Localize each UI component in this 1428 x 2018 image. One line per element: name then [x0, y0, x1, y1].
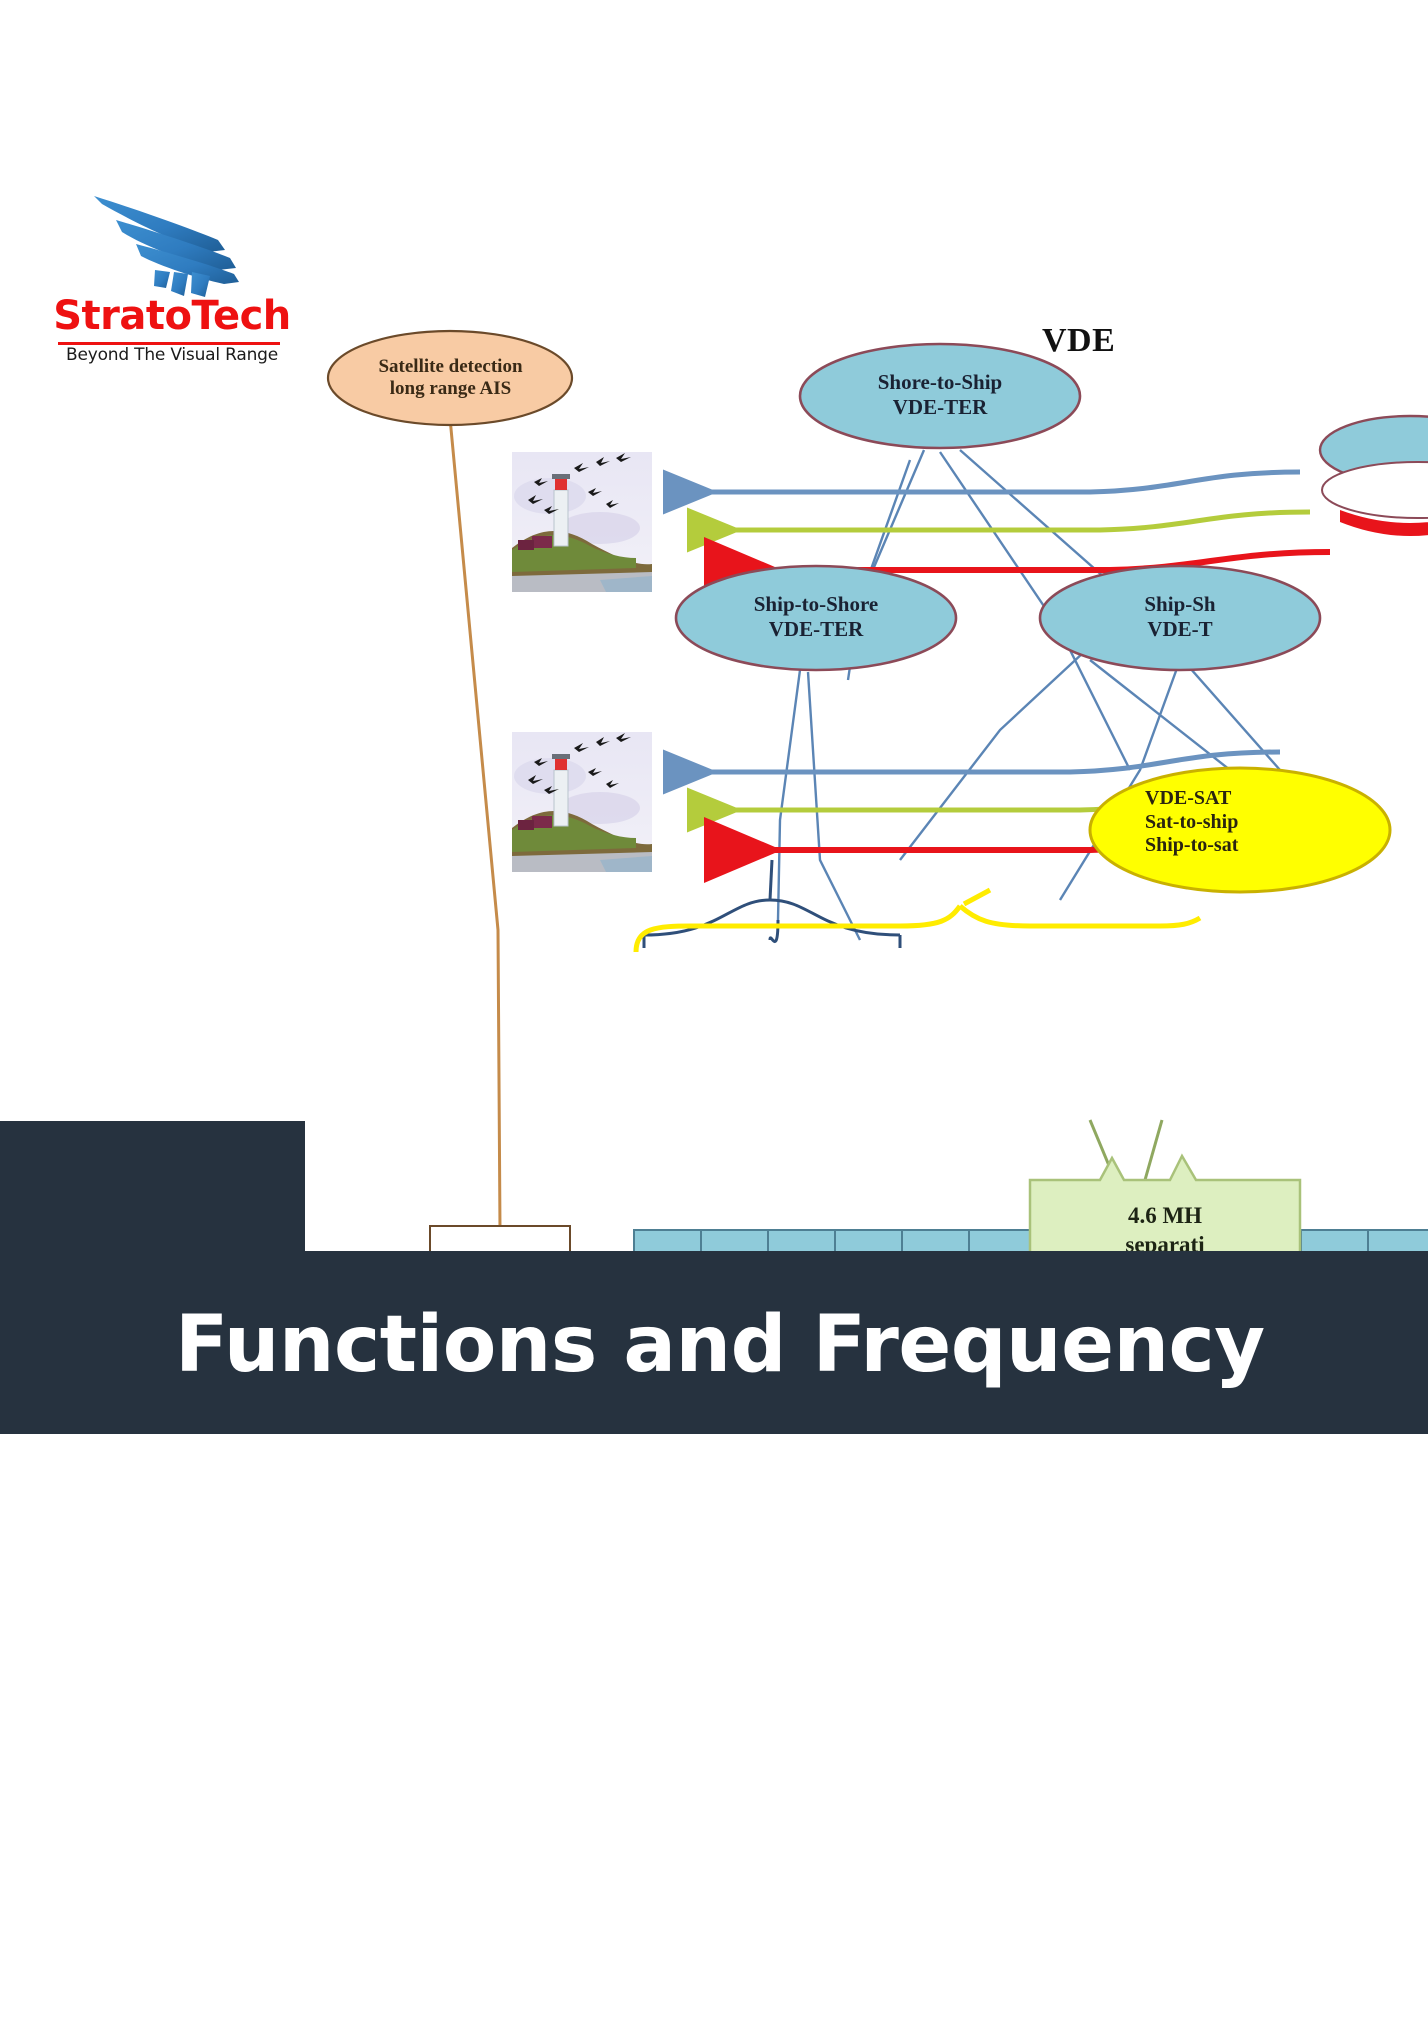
diagram-title: VDE — [1042, 322, 1115, 360]
stratotech-logo: StratoTech Beyond The Visual Range — [52, 192, 292, 377]
wing-icon — [92, 192, 252, 297]
lighthouse-lower-image — [512, 732, 652, 872]
lighthouse-upper-image — [512, 452, 652, 592]
slide-canvas: StratoTech Beyond The Visual Range — [0, 0, 1428, 2018]
node-ship-to-ship — [1040, 566, 1320, 670]
logo-wordmark: StratoTech — [52, 296, 292, 336]
node-vde-sat — [1090, 768, 1390, 892]
node-partial-top-right — [1320, 416, 1428, 536]
node-ship-to-shore — [676, 566, 956, 670]
logo-tagline: Beyond The Visual Range — [52, 345, 292, 365]
node-satellite-detection — [328, 331, 572, 425]
node-shore-to-ship — [800, 344, 1080, 448]
callout-line-1: 4.6 MH — [1128, 1203, 1202, 1228]
page-title: Functions and Frequency — [175, 1265, 1428, 1425]
footer-area — [0, 1434, 1428, 2018]
